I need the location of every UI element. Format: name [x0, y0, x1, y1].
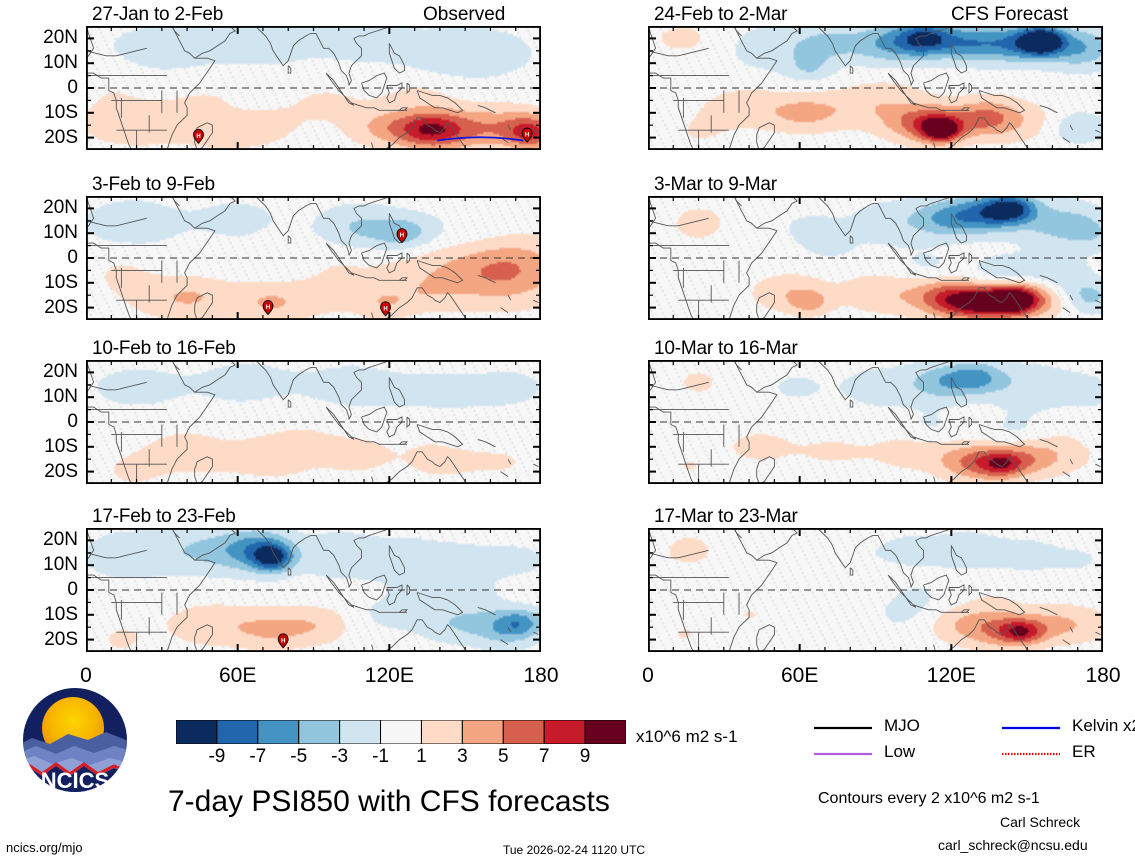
y-axis-label: 10S: [0, 272, 78, 294]
map-panel: [648, 26, 1103, 150]
colorbar-tick-label: -9: [197, 746, 237, 768]
panel-title: 10-Mar to 16-Mar: [654, 338, 798, 360]
colorbar-swatch: [381, 720, 422, 744]
y-axis-label: 10N: [0, 222, 78, 244]
x-axis-label: 60E: [768, 664, 832, 688]
colorbar-swatch: [544, 720, 585, 744]
colorbar-swatch: [421, 720, 462, 744]
y-axis-label: 20S: [0, 461, 78, 483]
map-panel: [648, 360, 1103, 484]
panel-title: 17-Mar to 23-Mar: [654, 506, 798, 528]
colorbar-tick-label: 7: [524, 746, 564, 768]
panel-title: 3-Feb to 9-Feb: [92, 174, 215, 196]
map-panel: H: [86, 528, 541, 652]
y-axis-label: 10S: [0, 604, 78, 626]
contour-note: Contours every 2 x10^6 m2 s-1: [818, 790, 1040, 808]
legend-label: MJO: [884, 716, 920, 736]
y-axis-label: 10N: [0, 386, 78, 408]
colorbar-swatch: [462, 720, 503, 744]
y-axis-label: 20S: [0, 127, 78, 149]
y-axis-label: 10S: [0, 436, 78, 458]
legend-entry-low: Low: [812, 742, 942, 764]
colorbar-tick-label: 5: [483, 746, 523, 768]
y-axis-label: 20N: [0, 197, 78, 219]
panel-title: 27-Jan to 2-Feb: [92, 4, 223, 26]
colorbar-tick-label: -3: [320, 746, 360, 768]
x-axis-label: 180: [1071, 664, 1135, 688]
y-axis-label: 20S: [0, 297, 78, 319]
panel-title: 10-Feb to 16-Feb: [92, 338, 236, 360]
svg-text:H: H: [196, 134, 200, 140]
logo-label: NCICS: [41, 768, 109, 793]
colorbar-swatch: [299, 720, 340, 744]
y-axis-label: 20N: [0, 529, 78, 551]
legend-label: ER: [1072, 742, 1096, 762]
panel-title: 3-Mar to 9-Mar: [654, 174, 777, 196]
colorbar-swatch: [176, 720, 217, 744]
x-axis-label: 0: [54, 664, 118, 688]
svg-text:H: H: [266, 305, 270, 311]
map-panel: [648, 528, 1103, 652]
colorbar-swatch: [585, 720, 626, 744]
credit-name: Carl Schreck: [1000, 814, 1080, 830]
y-axis-label: 0: [0, 247, 78, 269]
x-axis-label: 120E: [919, 664, 983, 688]
colorbar-tick-label: -7: [238, 746, 278, 768]
y-axis-label: 0: [0, 411, 78, 433]
legend-entry-er: ER: [1000, 742, 1130, 764]
colorbar-units: x10^6 m2 s-1: [636, 727, 738, 747]
colorbar-tick-label: 3: [442, 746, 482, 768]
y-axis-label: 0: [0, 77, 78, 99]
y-axis-label: 10N: [0, 52, 78, 74]
colorbar-tick-label: 1: [401, 746, 441, 768]
colorbar-swatch: [258, 720, 299, 744]
ncics-logo: NCICS: [16, 688, 134, 800]
x-axis-label: 120E: [357, 664, 421, 688]
colorbar-swatch: [340, 720, 381, 744]
column-header-forecast: CFS Forecast: [951, 4, 1068, 26]
panel-title: 24-Feb to 2-Mar: [654, 4, 787, 26]
y-axis-label: 10S: [0, 102, 78, 124]
map-panel: HH: [86, 26, 541, 150]
site-url[interactable]: ncics.org/mjo: [6, 840, 83, 855]
x-axis-label: 60E: [206, 664, 270, 688]
main-title: 7-day PSI850 with CFS forecasts: [168, 785, 610, 819]
svg-text:H: H: [383, 306, 387, 312]
colorbar-tick-label: -1: [361, 746, 401, 768]
x-axis-label: 180: [509, 664, 573, 688]
map-panel: [86, 360, 541, 484]
x-axis-label: 0: [616, 664, 680, 688]
map-panel: [648, 196, 1103, 320]
svg-text:H: H: [400, 233, 404, 239]
y-axis-label: 0: [0, 579, 78, 601]
svg-text:H: H: [525, 133, 529, 139]
timestamp: Tue 2026-02-24 1120 UTC: [503, 843, 645, 857]
credit-email[interactable]: carl_schreck@ncsu.edu: [938, 837, 1088, 853]
y-axis-label: 20N: [0, 27, 78, 49]
column-header-observed: Observed: [423, 4, 505, 26]
panel-title: 17-Feb to 23-Feb: [92, 506, 236, 528]
colorbar-swatch: [217, 720, 258, 744]
map-panel: HHH: [86, 196, 541, 320]
legend-entry-mjo: MJO: [812, 716, 942, 738]
y-axis-label: 20N: [0, 361, 78, 383]
colorbar-swatch: [503, 720, 544, 744]
colorbar-tick-label: 9: [565, 746, 605, 768]
legend-label: Low: [884, 742, 915, 762]
y-axis-label: 10N: [0, 554, 78, 576]
y-axis-label: 20S: [0, 629, 78, 651]
colorbar: [176, 720, 626, 744]
svg-text:H: H: [281, 638, 285, 644]
legend-entry-kelvin-x2: Kelvin x2: [1000, 716, 1130, 738]
colorbar-tick-label: -5: [279, 746, 319, 768]
legend-label: Kelvin x2: [1072, 716, 1135, 736]
